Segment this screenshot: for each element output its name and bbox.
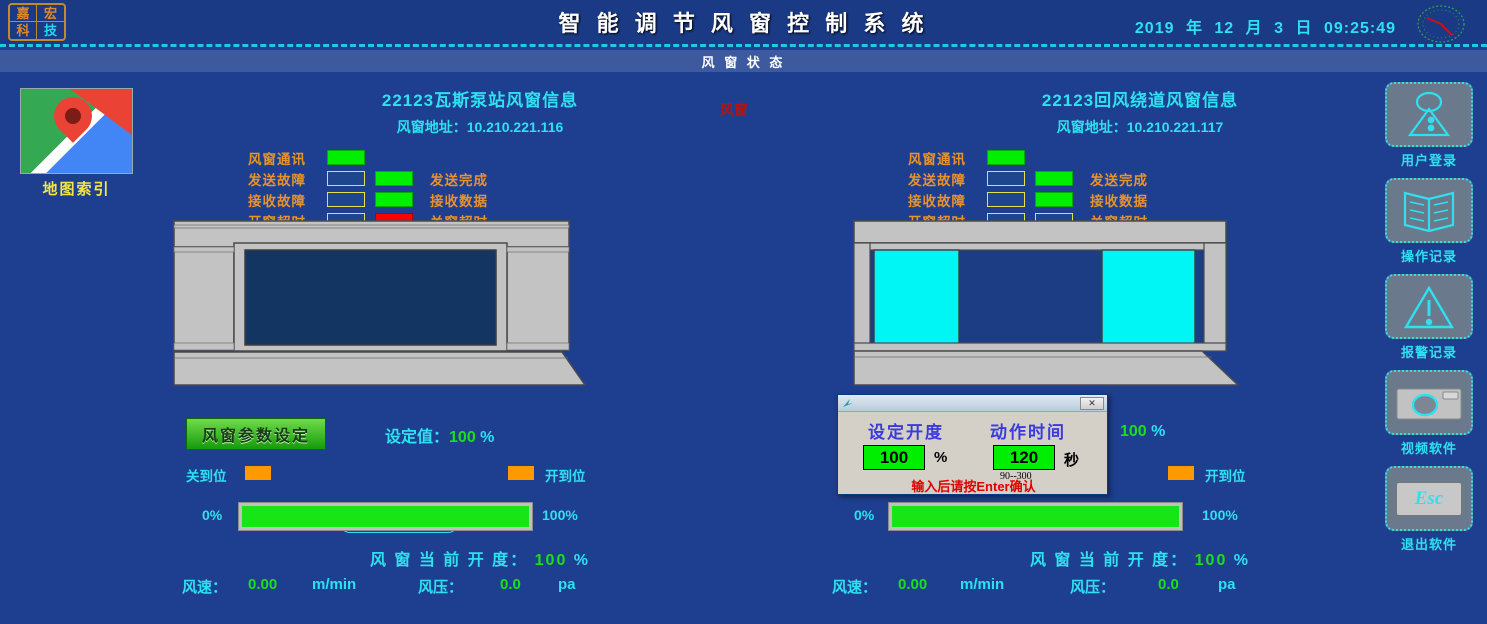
opening-progress-fill-right xyxy=(892,506,1179,527)
wind-speed-label-right: 风速： xyxy=(832,576,877,597)
wind-speed-label: 风速： xyxy=(182,576,227,597)
current-opening-label-right: 风 窗 当 前 开 度： xyxy=(1030,552,1188,569)
map-pin-icon xyxy=(20,88,133,174)
warning-triangle-icon xyxy=(1403,284,1455,330)
open-position-label-right: 开到位 xyxy=(1205,465,1246,485)
sidebar-item-operation-log[interactable]: 操作记录 xyxy=(1381,178,1477,265)
user-login-button[interactable] xyxy=(1385,82,1473,147)
close-position-led xyxy=(245,466,271,480)
bar-max-label-right: 100% xyxy=(1202,507,1238,523)
date-month: 12 xyxy=(1214,20,1234,37)
indicator-row: 发送故障 发送完成 xyxy=(248,168,800,189)
action-time-label: 动作时间 xyxy=(990,418,1066,443)
current-opening-label: 风 窗 当 前 开 度： xyxy=(370,552,528,569)
lamp-recv-fault xyxy=(987,192,1025,207)
panel-right-info: 22123回风绕道风窗信息 风窗地址：10.210.221.117 风窗通讯 发… xyxy=(820,86,1460,231)
opening-progress-bar-right[interactable] xyxy=(888,502,1183,531)
video-software-button[interactable] xyxy=(1385,370,1473,435)
app-header: 嘉 宏 科 技 智 能 调 节 风 窗 控 制 系 统 2019 年 12 月 … xyxy=(0,0,1487,47)
set-value-number-right: 100 xyxy=(1120,423,1147,440)
lamp-recv-fault xyxy=(327,192,365,207)
set-value-unit-right: % xyxy=(1151,423,1165,440)
sidebar-label-operation-log: 操作记录 xyxy=(1381,246,1477,265)
status-band: 风 窗 状 态 xyxy=(0,50,1487,72)
open-position-label: 开到位 xyxy=(545,465,586,485)
bar-min-label: 0% xyxy=(202,507,222,523)
sidebar-item-user-login[interactable]: 用户登录 xyxy=(1381,82,1477,169)
indicator-label: 发送故障 xyxy=(908,169,982,189)
sidebar-label-alarm-log: 报警记录 xyxy=(1381,342,1477,361)
action-time-unit: 秒 xyxy=(1064,449,1079,470)
current-opening-value-right: 100 xyxy=(1195,552,1228,569)
bar-max-label: 100% xyxy=(542,507,578,523)
status-band-label: 风 窗 状 态 xyxy=(702,52,786,71)
parameter-dialog[interactable]: ✕ 设定开度 动作时间 100 % 120 秒 90--300 输入后请按Ent… xyxy=(837,394,1108,495)
date-year-unit: 年 xyxy=(1186,20,1203,37)
wind-pressure-label-right: 风压： xyxy=(1070,576,1115,597)
panel-left-address-label: 风窗地址： xyxy=(397,119,467,135)
clock-time: 09:25:49 xyxy=(1324,20,1396,37)
lamp-recv-data xyxy=(375,192,413,207)
panel-left-title: 22123瓦斯泵站风窗信息 xyxy=(160,86,800,111)
current-opening-value: 100 xyxy=(535,552,568,569)
open-position-led xyxy=(508,466,534,480)
exit-software-button[interactable]: Esc xyxy=(1385,466,1473,531)
dialog-title-bar[interactable]: ✕ xyxy=(838,395,1107,412)
sidebar-label-user-login: 用户登录 xyxy=(1381,150,1477,169)
panel-right-title: 22123回风绕道风窗信息 xyxy=(820,86,1460,111)
dialog-body: 设定开度 动作时间 100 % 120 秒 90--300 输入后请按Enter… xyxy=(838,412,1107,496)
indicator-label: 接收故障 xyxy=(248,190,322,210)
window-graphic-right xyxy=(852,219,1240,387)
position-indicator-row: 关到位 当前自动调节 开到位 xyxy=(160,462,800,484)
sidebar-item-alarm-log[interactable]: 报警记录 xyxy=(1381,274,1477,361)
window-param-set-button[interactable]: 风窗参数设定 xyxy=(186,418,326,450)
panel-right-address-label: 风窗地址： xyxy=(1057,119,1127,135)
window-graphic-left xyxy=(172,219,587,387)
panel-left-address-value: 10.210.221.116 xyxy=(467,119,564,135)
indicator-label: 接收故障 xyxy=(908,190,982,210)
app-window-icon xyxy=(842,398,854,409)
map-index-label: 地图索引 xyxy=(20,178,133,199)
wind-pressure-unit: pa xyxy=(558,576,576,593)
right-sidebar: 用户登录 操作记录 报警记录 xyxy=(1381,82,1477,562)
datetime-display: 2019 年 12 月 3 日 09:25:49 xyxy=(1132,14,1399,38)
wind-speed-unit: m/min xyxy=(312,576,356,593)
sidebar-label-video-software: 视频软件 xyxy=(1381,438,1477,457)
set-value-number: 100 xyxy=(449,429,476,446)
camera-icon xyxy=(1394,383,1464,423)
lamp-send-fault xyxy=(987,171,1025,186)
wind-speed-value-right: 0.00 xyxy=(898,576,927,593)
current-opening-unit: % xyxy=(574,552,590,569)
book-icon xyxy=(1401,189,1457,233)
opening-set-input[interactable]: 100 xyxy=(863,445,925,470)
sidebar-label-exit: 退出软件 xyxy=(1381,534,1477,553)
indicator-label-2: 接收数据 xyxy=(430,190,488,210)
date-month-unit: 月 xyxy=(1246,20,1263,37)
indicator-row: 发送故障 发送完成 xyxy=(908,168,1460,189)
sidebar-item-exit[interactable]: Esc 退出软件 xyxy=(1381,466,1477,553)
dialog-close-button[interactable]: ✕ xyxy=(1080,397,1104,410)
date-year: 2019 xyxy=(1135,20,1175,37)
lamp-comm xyxy=(987,150,1025,165)
progress-bar-row: 0% 100% xyxy=(160,502,800,532)
indicator-label: 风窗通讯 xyxy=(908,148,982,168)
opening-progress-fill xyxy=(242,506,529,527)
panel-left-info: 22123瓦斯泵站风窗信息 风窗地址：10.210.221.116 风窗通讯 发… xyxy=(160,86,800,231)
open-position-led-right xyxy=(1168,466,1194,480)
alarm-log-button[interactable] xyxy=(1385,274,1473,339)
action-time-input[interactable]: 120 xyxy=(993,445,1055,470)
wind-speed-unit-right: m/min xyxy=(960,576,1004,593)
wind-speed-value: 0.00 xyxy=(248,576,277,593)
opening-set-unit: % xyxy=(934,449,947,466)
indicator-label: 风窗通讯 xyxy=(248,148,322,168)
set-value-display-right: 100 % xyxy=(1120,423,1165,441)
wind-pressure-value: 0.0 xyxy=(500,576,521,593)
operation-log-button[interactable] xyxy=(1385,178,1473,243)
opening-set-label: 设定开度 xyxy=(868,418,944,443)
dialog-hint: 输入后请按Enter确认 xyxy=(838,476,1109,495)
lamp-send-done xyxy=(375,171,413,186)
bar-min-label-right: 0% xyxy=(854,507,874,523)
analog-clock-icon xyxy=(1415,4,1467,44)
panel-right-address-value: 10.210.221.117 xyxy=(1127,119,1224,135)
indicator-row: 接收故障 接收数据 xyxy=(248,189,800,210)
map-index-button[interactable]: 地图索引 xyxy=(20,88,133,199)
current-opening-row-right: 风 窗 当 前 开 度： 100 % xyxy=(820,546,1460,570)
lamp-comm xyxy=(327,150,365,165)
current-opening-unit-right: % xyxy=(1234,552,1250,569)
sidebar-item-video-software[interactable]: 视频软件 xyxy=(1381,370,1477,457)
date-day-unit: 日 xyxy=(1295,20,1312,37)
wind-pressure-label: 风压： xyxy=(418,576,463,597)
user-icon xyxy=(1404,91,1454,139)
indicator-label-2: 接收数据 xyxy=(1090,190,1148,210)
set-value-unit: % xyxy=(480,429,494,446)
lamp-recv-data xyxy=(1035,192,1073,207)
measurements-row-right: 风速： 0.00 m/min 风压： 0.0 pa xyxy=(820,576,1460,598)
indicator-label: 发送故障 xyxy=(248,169,322,189)
panel-left-address: 风窗地址：10.210.221.116 xyxy=(160,117,800,137)
wind-pressure-unit-right: pa xyxy=(1218,576,1236,593)
indicator-label-2: 发送完成 xyxy=(1090,169,1148,189)
progress-bar-row-right: 0% 100% xyxy=(820,502,1460,532)
panel-right-address: 风窗地址：10.210.221.117 xyxy=(820,117,1460,137)
indicator-row: 风窗通讯 xyxy=(908,147,1460,168)
current-opening-row: 风 窗 当 前 开 度： 100 % xyxy=(160,546,800,570)
set-value-label: 设定值： xyxy=(385,429,449,446)
indicator-row: 接收故障 接收数据 xyxy=(908,189,1460,210)
close-position-label: 关到位 xyxy=(186,465,227,485)
indicator-label-2: 发送完成 xyxy=(430,169,488,189)
wind-pressure-value-right: 0.0 xyxy=(1158,576,1179,593)
esc-key-icon: Esc xyxy=(1396,482,1462,516)
lamp-send-fault xyxy=(327,171,365,186)
date-day: 3 xyxy=(1274,20,1284,37)
lamp-send-done xyxy=(1035,171,1073,186)
measurements-row: 风速： 0.00 m/min 风压： 0.0 pa xyxy=(160,576,800,598)
set-value-display: 设定值：100 % xyxy=(385,423,494,447)
indicator-row: 风窗通讯 xyxy=(248,147,800,168)
opening-progress-bar[interactable] xyxy=(238,502,533,531)
